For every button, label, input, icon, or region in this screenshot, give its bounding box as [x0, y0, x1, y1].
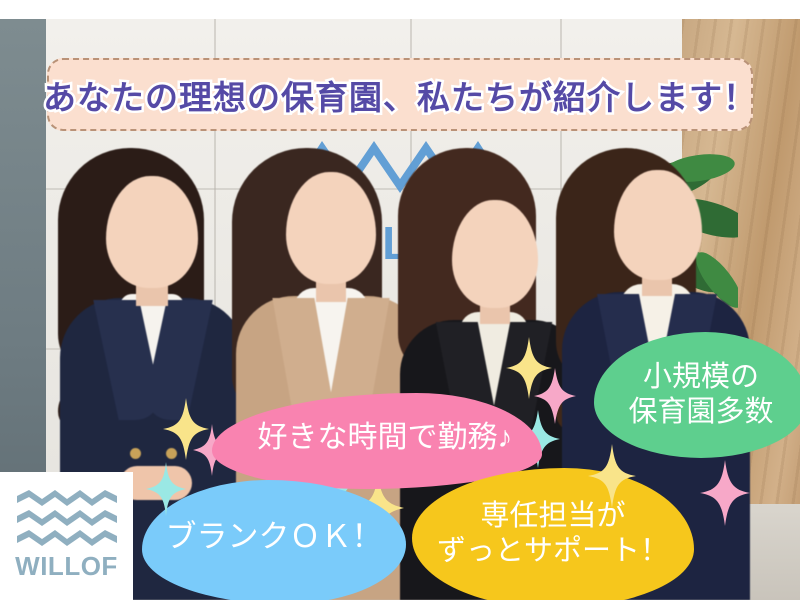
bubble-blue-line-1: ブランクＯＫ！	[166, 518, 383, 556]
bubble-pink-line-1: 好きな時間で勤務♪	[258, 420, 513, 457]
person-1-face	[106, 176, 198, 288]
sparkle-icon-9	[700, 460, 750, 526]
advertisement-banner: WILLOF	[0, 0, 800, 600]
bubble-yellow-line-2: ずっとサポート！	[437, 534, 669, 569]
willof-logo-badge: WILLOF	[0, 472, 133, 600]
person-3-face	[452, 200, 538, 308]
headline-text: あなたの理想の保育園、私たちが紹介します！	[43, 71, 757, 119]
sparkle-icon-8	[588, 444, 636, 508]
bubble-green-line-1: 小規模の	[628, 360, 773, 395]
person-1-button-left	[130, 448, 141, 459]
sparkle-icon-10	[146, 462, 186, 516]
person-4-face	[614, 170, 702, 280]
bubble-green-line-2: 保育園多数	[628, 395, 773, 430]
headline-banner: あなたの理想の保育園、私たちが紹介します！	[47, 58, 753, 131]
willof-wordmark: WILLOF	[15, 551, 118, 582]
zigzag-wave-icon	[17, 490, 117, 548]
top-white-strip	[0, 0, 800, 19]
person-2-face	[286, 172, 376, 284]
